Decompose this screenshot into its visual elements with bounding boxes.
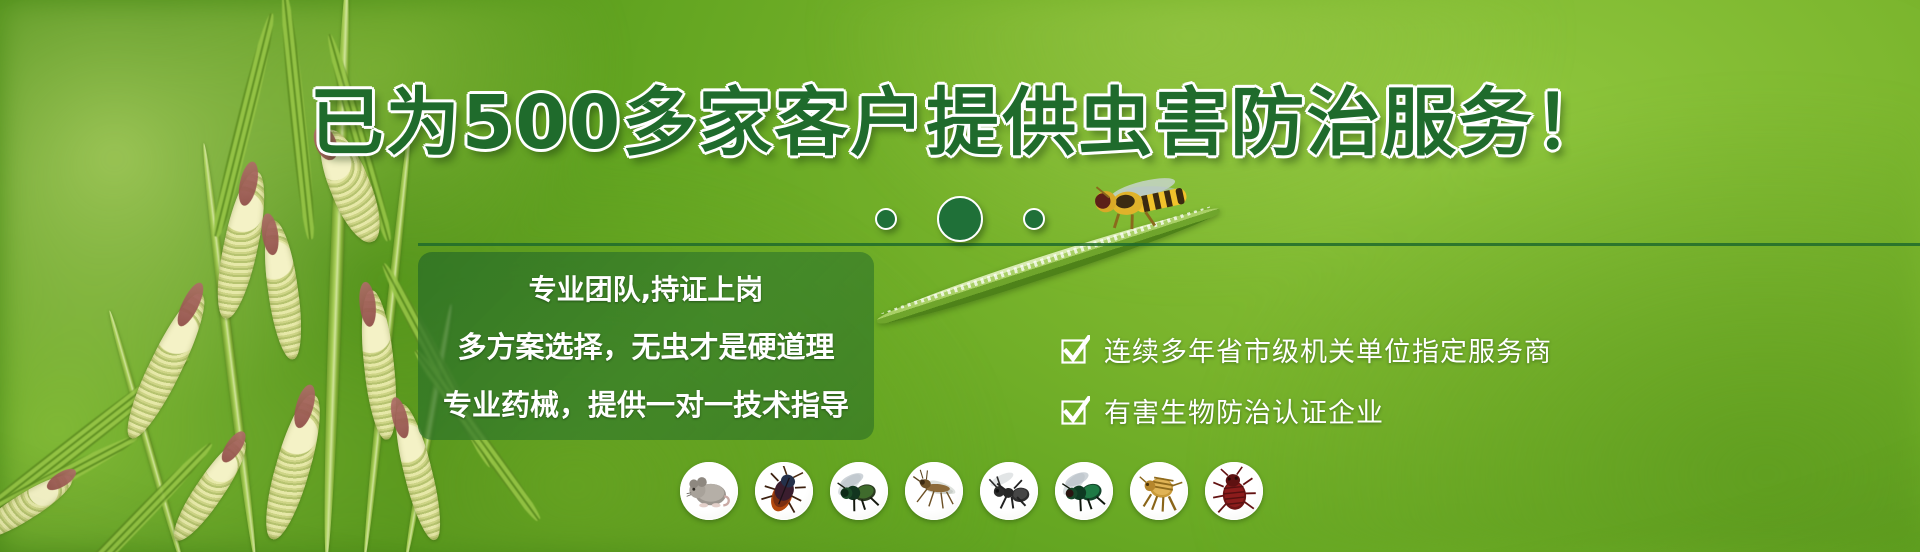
bedbug-icon[interactable] bbox=[1205, 462, 1263, 520]
decor-dot-big-center bbox=[937, 196, 983, 242]
decor-dot-group bbox=[0, 196, 1920, 242]
checkbox-checked-icon bbox=[1060, 396, 1090, 426]
flea-icon[interactable] bbox=[1130, 462, 1188, 520]
checkbox-checked-icon bbox=[1060, 335, 1090, 365]
decor-dot-small-right bbox=[1023, 208, 1045, 230]
slogan-line-2: 多方案选择，无虫才是硬道理 bbox=[457, 324, 834, 366]
headline-text: 已为500多家客户提供虫害防治服务！ bbox=[310, 86, 1610, 160]
pest-icon-strip bbox=[680, 462, 1263, 520]
divider-line bbox=[418, 243, 1920, 246]
checklist-item-2: 有害生物防治认证企业 bbox=[1060, 391, 1552, 430]
mosquito-icon[interactable] bbox=[905, 462, 963, 520]
ant-icon[interactable] bbox=[980, 462, 1038, 520]
slogan-panel: 专业团队,持证上岗 多方案选择，无虫才是硬道理 专业药械，提供一对一技术指导 bbox=[418, 252, 874, 440]
slogan-line-3: 专业药械，提供一对一技术指导 bbox=[443, 382, 849, 424]
rat-icon[interactable] bbox=[680, 462, 738, 520]
fly-icon[interactable] bbox=[830, 462, 888, 520]
checklist-item-1: 连续多年省市级机关单位指定服务商 bbox=[1060, 330, 1552, 369]
checklist-label-1: 连续多年省市级机关单位指定服务商 bbox=[1104, 330, 1552, 369]
checklist: 连续多年省市级机关单位指定服务商 有害生物防治认证企业 bbox=[1060, 330, 1552, 430]
checklist-label-2: 有害生物防治认证企业 bbox=[1104, 391, 1384, 430]
headline: 已为500多家客户提供虫害防治服务！ bbox=[0, 86, 1920, 160]
decor-dot-small-left bbox=[875, 208, 897, 230]
blowfly-icon[interactable] bbox=[1055, 462, 1113, 520]
slogan-line-1: 专业团队,持证上岗 bbox=[529, 268, 764, 308]
pest-control-hero-banner: 已为500多家客户提供虫害防治服务！ 专业团队,持证上岗 多方案选择，无虫才是硬… bbox=[0, 0, 1920, 552]
cockroach-icon[interactable] bbox=[755, 462, 813, 520]
